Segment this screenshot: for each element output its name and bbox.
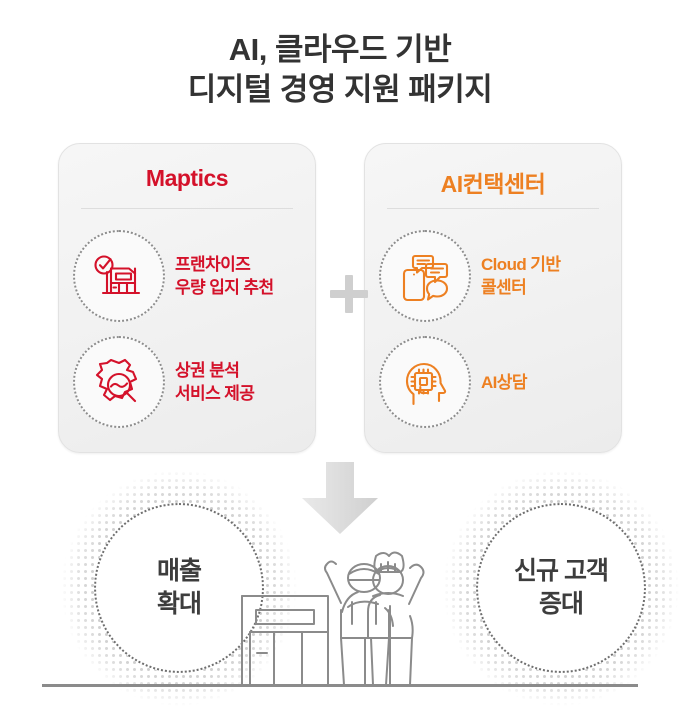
card-divider [81,208,293,209]
card-ai-contact-center[interactable]: AI컨택센터 Cloud 기반 콜센터 [364,143,622,453]
outcome-line-2: 증대 [539,588,583,621]
plus-connector-icon [330,275,368,313]
outcome-line-1: 매출 [157,555,201,588]
card-maptics[interactable]: Maptics 프랜차이즈 우량 입지 추천 [58,143,316,453]
card-divider [387,208,599,209]
outcome-new-customers-label: 신규 고객 증대 [443,470,679,706]
feature-ai-consulting-text: AI상담 [481,371,527,394]
feature-line-2: 콜센터 [481,276,560,299]
feature-cloud-callcenter-text: Cloud 기반 콜센터 [481,253,560,299]
two-people-celebrating-storefront [240,520,440,688]
outcome-new-customers: 신규 고객 증대 [443,470,679,706]
feature-cloud-callcenter[interactable]: Cloud 기반 콜센터 [379,228,611,324]
feature-ai-consulting[interactable]: AI상담 [379,334,611,430]
phone-chat-icon [379,230,471,322]
storefront-outline [242,596,328,685]
feature-line-2: 우량 입지 추천 [175,276,274,299]
feature-line-1: 상권 분석 [175,359,254,382]
storefront-check-icon [73,230,165,322]
feature-franchise-location-text: 프랜차이즈 우량 입지 추천 [175,253,274,299]
card-maptics-heading: Maptics [59,165,315,192]
map-magnifier-icon [73,336,165,428]
card-ai-contact-center-heading: AI컨택센터 [365,165,621,199]
feature-line-1: AI상담 [481,371,527,394]
feature-line-1: 프랜차이즈 [175,253,274,276]
page-title: AI, 클라우드 기반 디지털 경영 지원 패키지 [0,30,680,110]
person-overalls [325,562,393,686]
feature-franchise-location[interactable]: 프랜차이즈 우량 입지 추천 [73,228,305,324]
title-line-1: AI, 클라우드 기반 [0,30,680,70]
outcome-line-1: 신규 고객 [514,555,608,588]
ai-head-chip-icon [379,336,471,428]
title-line-2: 디지털 경영 지원 패키지 [0,70,680,110]
feature-line-2: 서비스 제공 [175,382,254,405]
feature-market-analysis-text: 상권 분석 서비스 제공 [175,359,254,405]
ground-line [42,684,638,687]
outcome-line-2: 확대 [157,588,201,621]
feature-line-1: Cloud 기반 [481,253,560,276]
feature-market-analysis[interactable]: 상권 분석 서비스 제공 [73,334,305,430]
